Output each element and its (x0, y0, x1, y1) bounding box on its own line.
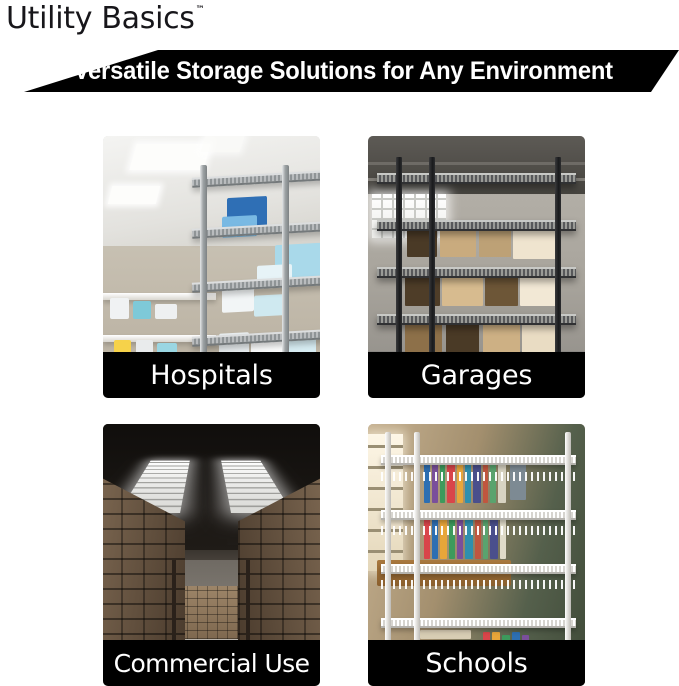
headline-banner: Versatile Storage Solutions for Any Envi… (0, 46, 679, 92)
category-card-garages[interactable]: Garages (368, 136, 585, 398)
category-card-schools[interactable]: Schools (368, 424, 585, 686)
brand-logo: Utility Basics ™ (6, 1, 205, 37)
category-card-label: Schools (368, 640, 585, 686)
category-card-label: Garages (368, 352, 585, 398)
banner-headline: Versatile Storage Solutions for Any Envi… (17, 50, 662, 92)
category-card-commercial-use[interactable]: Commercial Use (103, 424, 320, 686)
category-card-label: Commercial Use (103, 640, 320, 686)
category-card-hospitals[interactable]: Hospitals (103, 136, 320, 398)
category-card-grid: Hospitals Garages (0, 118, 679, 671)
category-card-label: Hospitals (103, 352, 320, 398)
trademark-symbol: ™ (196, 6, 205, 15)
brand-name: Utility Basics (6, 1, 195, 37)
